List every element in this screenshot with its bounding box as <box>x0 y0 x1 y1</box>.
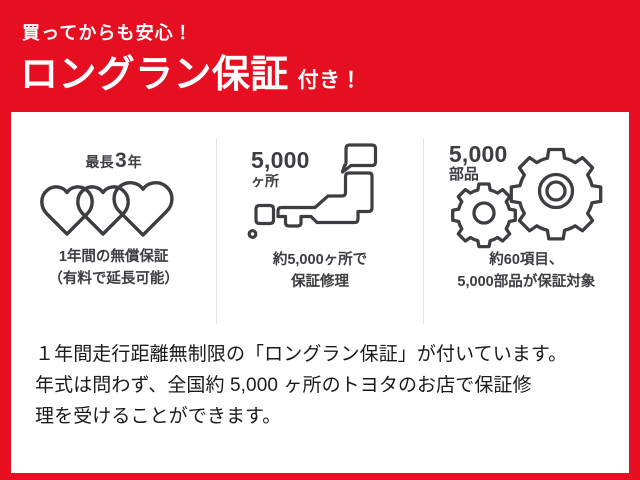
body-description: １年間走行距離無制限の「ロングラン保証」が付いています。 年式は問わず、全国約 … <box>35 340 610 432</box>
body-line-1: １年間走行距離無制限の「ロングラン保証」が付いています。 <box>35 340 610 371</box>
japan-map-icon: 5,000 ヶ所 <box>245 142 395 246</box>
header-kicker: 買ってからも安心！ <box>22 24 193 42</box>
feature-1-heading: 最長 3 年 <box>85 150 142 171</box>
header-headline: ロングラン保証 付き！ <box>20 56 362 94</box>
long-run-warranty-ad: 買ってからも安心！ ロングラン保証 付き！ 最長 3 年 <box>0 0 640 480</box>
body-line-2: 年式は問わず、全国約 5,000 ヶ所のトヨタのお店で保証修 <box>35 371 610 402</box>
feature-2-icon-area: 5,000 ヶ所 <box>217 138 422 250</box>
feature-2-caption: 約5,000ヶ所で 保証修理 <box>273 250 367 294</box>
feature-warranty-term: 最長 3 年 1年間の無償保証 （有料で延長可能） <box>11 138 216 324</box>
feature-3-caption-line2: 5,000部品が保証対象 <box>457 272 595 294</box>
ad-header: 買ってからも安心！ ロングラン保証 付き！ <box>0 0 640 112</box>
headline-main-text: ロングラン保証 <box>20 56 289 94</box>
feature-covered-parts: 5,000 部品 <box>423 138 629 324</box>
headline-sub-text: 付き！ <box>298 70 362 91</box>
feature-1-caption: 1年間の無償保証 （有料で延長可能） <box>48 247 179 291</box>
feature-1-heading-number: 3 <box>115 150 127 171</box>
feature-2-caption-line2: 保証修理 <box>273 272 367 294</box>
feature-columns: 最長 3 年 1年間の無償保証 （有料で延長可能） <box>11 138 629 324</box>
three-hearts-icon <box>39 176 189 243</box>
feature-1-heading-suffix: 年 <box>128 155 142 169</box>
feature-3-caption: 約60項目、 5,000部品が保証対象 <box>457 250 595 294</box>
feature-3-icon-area: 5,000 部品 <box>424 138 629 250</box>
feature-service-locations: 5,000 ヶ所 <box>216 138 422 324</box>
body-line-3: 理を受けることができます。 <box>35 402 610 433</box>
feature-1-caption-line2: （有料で延長可能） <box>48 269 179 291</box>
feature-1-heading-prefix: 最長 <box>85 155 114 169</box>
content-panel: 最長 3 年 1年間の無償保証 （有料で延長可能） <box>11 112 629 473</box>
gears-icon: 5,000 部品 <box>439 138 614 250</box>
feature-3-caption-line1: 約60項目、 <box>457 250 595 272</box>
feature-2-caption-line1: 約5,000ヶ所で <box>273 250 367 272</box>
feature-1-caption-line1: 1年間の無償保証 <box>48 247 179 269</box>
